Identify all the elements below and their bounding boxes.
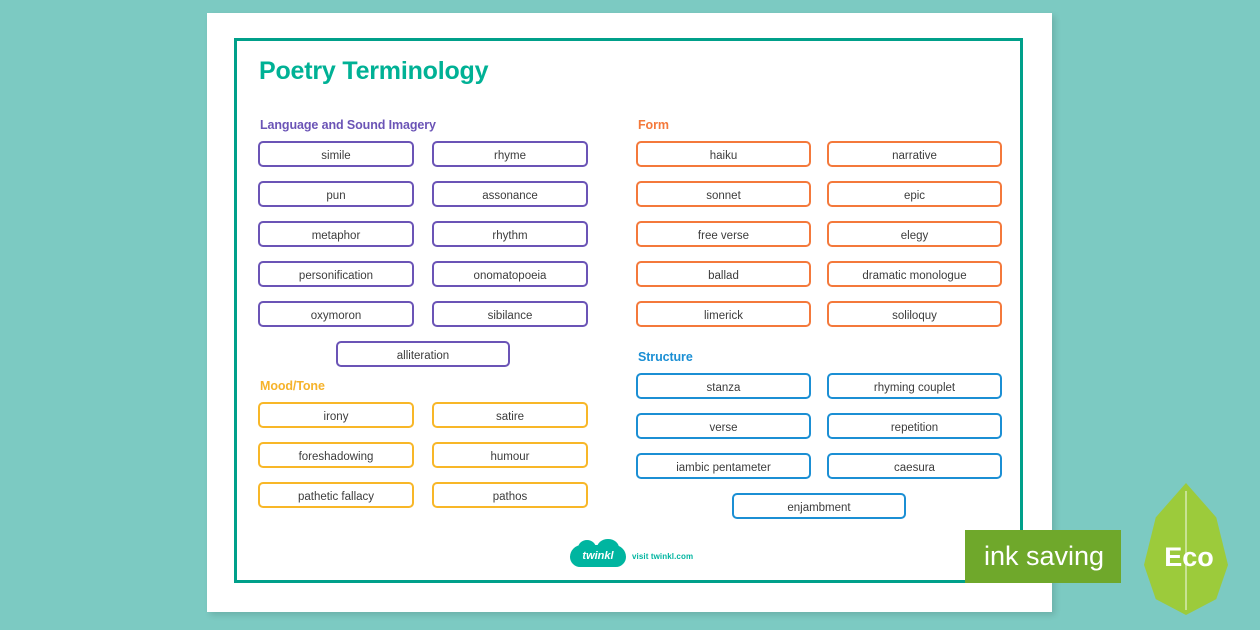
word-box[interactable]: caesura: [827, 453, 1002, 479]
right-column: Form haiku narrative sonnet epic free ve…: [636, 118, 1002, 519]
structure-word-grid: stanza rhyming couplet verse repetition …: [636, 373, 1002, 479]
word-box[interactable]: elegy: [827, 221, 1002, 247]
word-box[interactable]: haiku: [636, 141, 811, 167]
word-box[interactable]: foreshadowing: [258, 442, 414, 468]
language-word-grid: simile rhyme pun assonance metaphor rhyt…: [258, 141, 588, 327]
section-heading-language: Language and Sound Imagery: [260, 118, 588, 132]
word-box[interactable]: pathetic fallacy: [258, 482, 414, 508]
word-box[interactable]: assonance: [432, 181, 588, 207]
word-box[interactable]: rhyme: [432, 141, 588, 167]
word-box[interactable]: personification: [258, 261, 414, 287]
word-box[interactable]: alliteration: [336, 341, 510, 367]
word-box[interactable]: pun: [258, 181, 414, 207]
word-box[interactable]: ballad: [636, 261, 811, 287]
section-language-and-sound-imagery: Language and Sound Imagery simile rhyme …: [258, 118, 588, 367]
language-single-row: alliteration: [258, 341, 588, 367]
word-box[interactable]: limerick: [636, 301, 811, 327]
twinkl-cloud-icon: twinkl: [570, 545, 626, 567]
word-box[interactable]: rhythm: [432, 221, 588, 247]
word-box[interactable]: oxymoron: [258, 301, 414, 327]
eco-label: Eco: [1161, 542, 1217, 573]
mood-word-grid: irony satire foreshadowing humour pathet…: [258, 402, 588, 508]
section-mood-tone: Mood/Tone irony satire foreshadowing hum…: [258, 379, 588, 508]
word-box[interactable]: satire: [432, 402, 588, 428]
twinkl-wordmark: twinkl: [570, 545, 626, 567]
word-box[interactable]: metaphor: [258, 221, 414, 247]
worksheet-page: Poetry Terminology Language and Sound Im…: [207, 13, 1052, 612]
section-structure: Structure stanza rhyming couplet verse r…: [636, 350, 1002, 519]
section-heading-form: Form: [638, 118, 1002, 132]
page-title: Poetry Terminology: [259, 57, 488, 86]
twinkl-logo: twinkl visit twinkl.com: [570, 545, 693, 567]
left-column: Language and Sound Imagery simile rhyme …: [258, 118, 588, 508]
word-box[interactable]: humour: [432, 442, 588, 468]
word-box[interactable]: irony: [258, 402, 414, 428]
word-box[interactable]: verse: [636, 413, 811, 439]
word-box[interactable]: stanza: [636, 373, 811, 399]
word-box[interactable]: soliloquy: [827, 301, 1002, 327]
word-box[interactable]: sonnet: [636, 181, 811, 207]
word-box[interactable]: onomatopoeia: [432, 261, 588, 287]
word-box[interactable]: repetition: [827, 413, 1002, 439]
word-box[interactable]: dramatic monologue: [827, 261, 1002, 287]
word-box[interactable]: sibilance: [432, 301, 588, 327]
twinkl-tagline: visit twinkl.com: [632, 552, 693, 561]
ink-saving-eco-badge: ink saving Eco: [965, 530, 1121, 583]
word-box[interactable]: pathos: [432, 482, 588, 508]
section-form: Form haiku narrative sonnet epic free ve…: [636, 118, 1002, 327]
structure-single-row: enjambment: [636, 493, 1002, 519]
word-box[interactable]: free verse: [636, 221, 811, 247]
word-box[interactable]: iambic pentameter: [636, 453, 811, 479]
word-box[interactable]: rhyming couplet: [827, 373, 1002, 399]
ink-saving-label: ink saving: [965, 530, 1121, 583]
section-heading-structure: Structure: [638, 350, 1002, 364]
word-box[interactable]: enjambment: [732, 493, 906, 519]
word-box[interactable]: narrative: [827, 141, 1002, 167]
word-box[interactable]: simile: [258, 141, 414, 167]
form-word-grid: haiku narrative sonnet epic free verse e…: [636, 141, 1002, 327]
word-box[interactable]: epic: [827, 181, 1002, 207]
section-heading-mood-tone: Mood/Tone: [260, 379, 588, 393]
